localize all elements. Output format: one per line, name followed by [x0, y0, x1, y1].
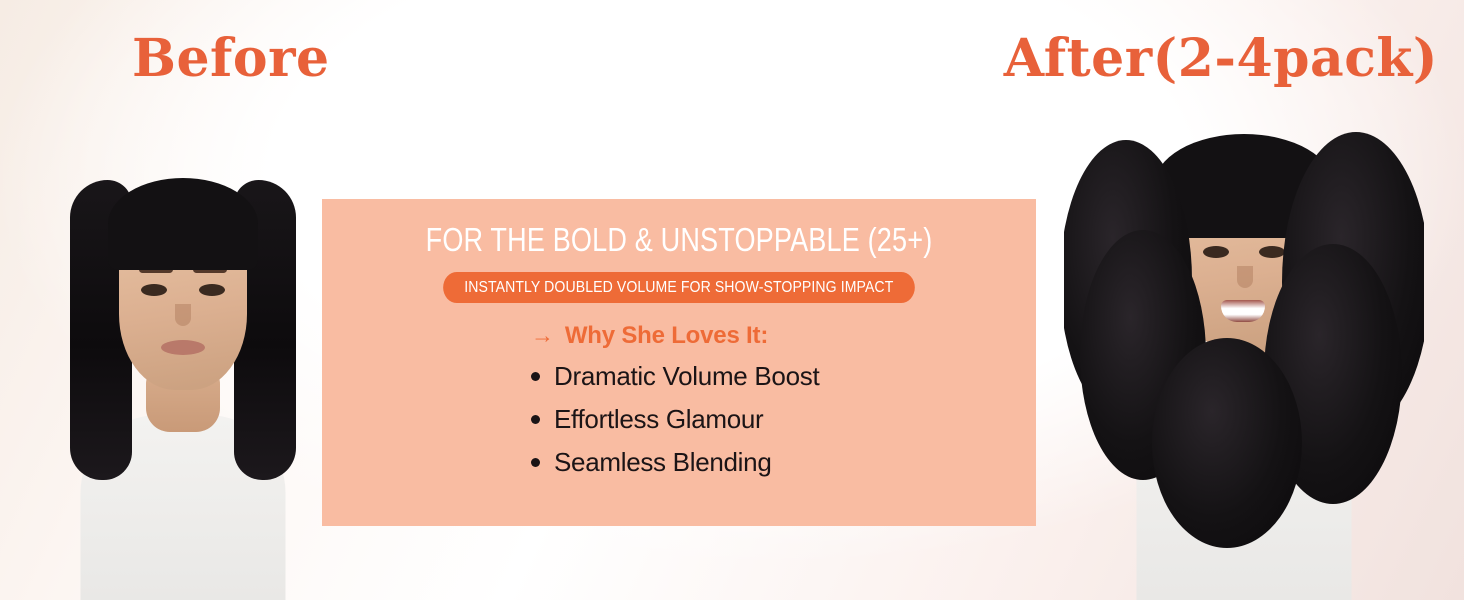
- list-item: Dramatic Volume Boost: [531, 361, 819, 392]
- hair-wave: [1152, 338, 1302, 548]
- after-label: After(2-4pack): [1004, 28, 1438, 89]
- benefits-list: Dramatic Volume Boost Effortless Glamour…: [531, 361, 819, 478]
- benefits-block: → Why She Loves It: Dramatic Volume Boos…: [531, 322, 819, 490]
- mouth: [1221, 300, 1265, 322]
- list-item: Seamless Blending: [531, 447, 819, 478]
- nose: [1237, 266, 1253, 288]
- eye-right: [1259, 246, 1285, 258]
- why-she-loves-it-heading: → Why She Loves It:: [531, 322, 819, 350]
- content-panel: FOR THE BOLD & UNSTOPPABLE (25+) INSTANT…: [322, 199, 1036, 526]
- promo-banner: Before After(2-4pack) FOR THE BOLD & UNS…: [0, 0, 1464, 600]
- list-item: Effortless Glamour: [531, 404, 819, 435]
- bullet-icon: [531, 415, 540, 424]
- benefit-label: Effortless Glamour: [554, 404, 763, 435]
- bullet-icon: [531, 372, 540, 381]
- bullet-icon: [531, 458, 540, 467]
- eye-left: [141, 284, 167, 296]
- benefit-label: Dramatic Volume Boost: [554, 361, 819, 392]
- after-model-photo: [1064, 80, 1424, 600]
- eye-right: [199, 284, 225, 296]
- benefit-label: Seamless Blending: [554, 447, 771, 478]
- before-label: Before: [132, 28, 330, 89]
- eye-left: [1203, 246, 1229, 258]
- hair-crown: [108, 178, 258, 270]
- why-she-loves-it-label: Why She Loves It:: [565, 322, 768, 350]
- mouth: [161, 340, 205, 355]
- arrow-right-icon: →: [531, 322, 554, 349]
- before-model-photo: [18, 90, 348, 600]
- headline: FOR THE BOLD & UNSTOPPABLE (25+): [426, 221, 933, 259]
- nose: [175, 304, 191, 326]
- promo-badge: INSTANTLY DOUBLED VOLUME FOR SHOW-STOPPI…: [443, 272, 914, 303]
